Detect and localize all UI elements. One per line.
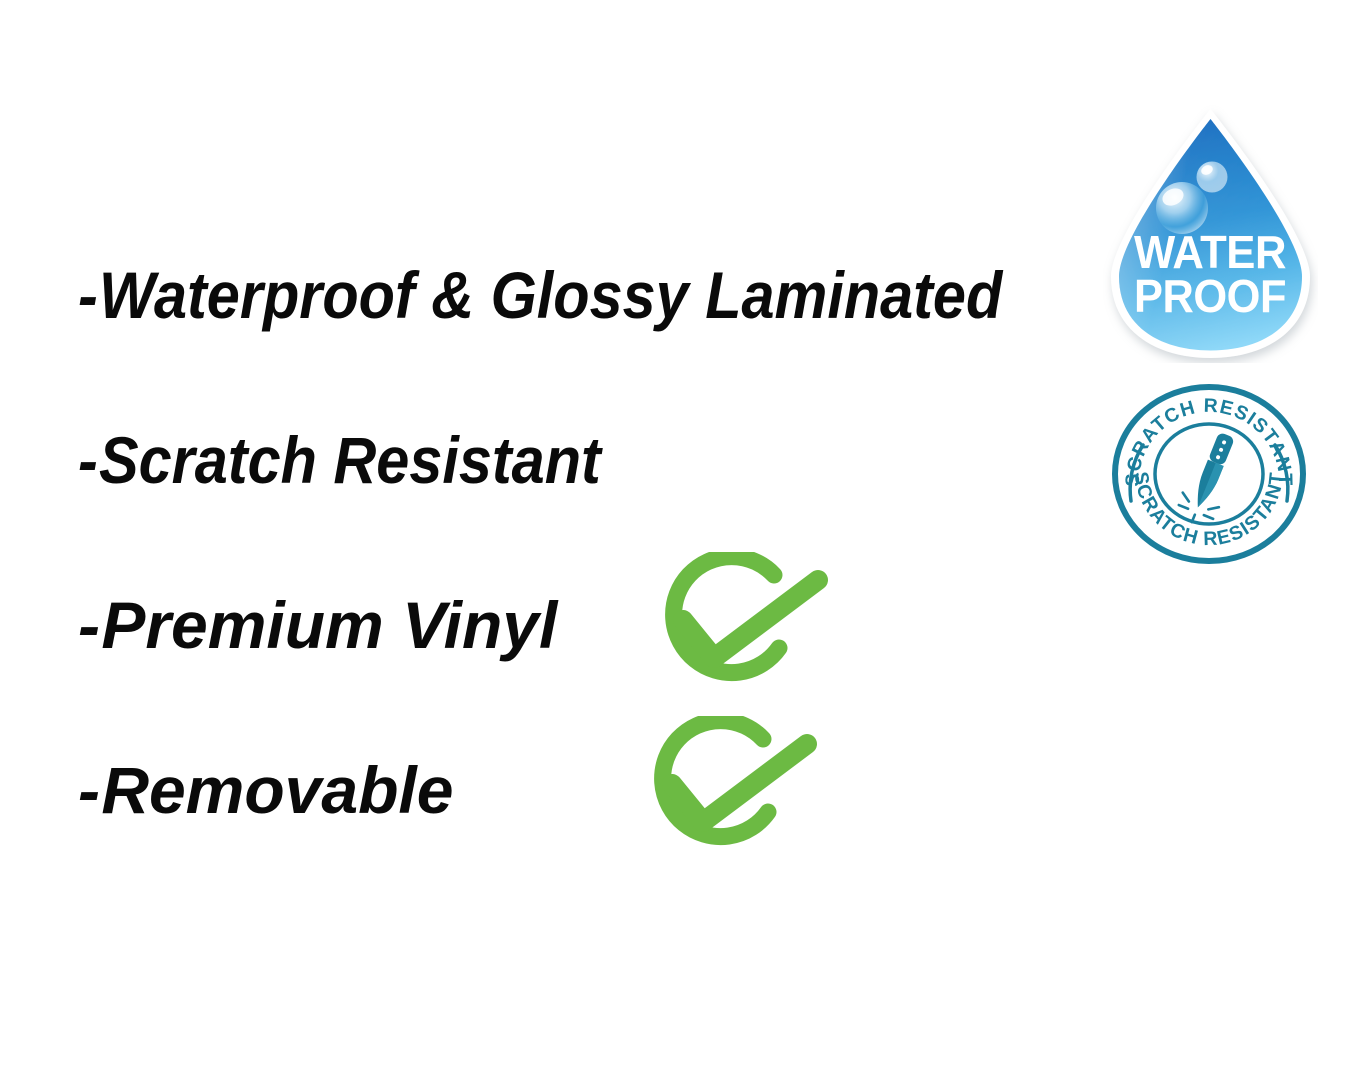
waterproof-badge: WATER PROOF [1103, 105, 1318, 363]
feature-bullet-dash: - [78, 258, 99, 332]
feature-item-premium-vinyl: -Premium Vinyl [78, 592, 557, 658]
water-bubble-small [1197, 162, 1228, 193]
feature-label: Waterproof & Glossy Laminated [99, 258, 1002, 332]
feature-item-removable: -Removable [78, 757, 453, 823]
feature-item-scratch-resistant: -Scratch Resistant [78, 427, 601, 493]
check-tick [683, 580, 818, 658]
check-removable [634, 716, 830, 866]
feature-bullet-dash: - [78, 753, 101, 827]
feature-label: Scratch Resistant [99, 423, 601, 497]
scratch-resistant-badge: SCRATCH RESISTANT SCRATCH RESISTANT [1109, 383, 1309, 565]
feature-label: Removable [101, 753, 453, 827]
feature-bullet-dash: - [78, 423, 99, 497]
check-premium-vinyl [645, 552, 841, 702]
feature-item-waterproof: -Waterproof & Glossy Laminated [78, 262, 1002, 328]
feature-label: Premium Vinyl [101, 588, 557, 662]
feature-graphic-canvas: -Waterproof & Glossy Laminated -Scratch … [0, 0, 1359, 1080]
check-tick [672, 744, 807, 822]
waterproof-line2: PROOF [1134, 270, 1286, 322]
feature-bullet-dash: - [78, 588, 101, 662]
knife-icon [1174, 428, 1245, 530]
